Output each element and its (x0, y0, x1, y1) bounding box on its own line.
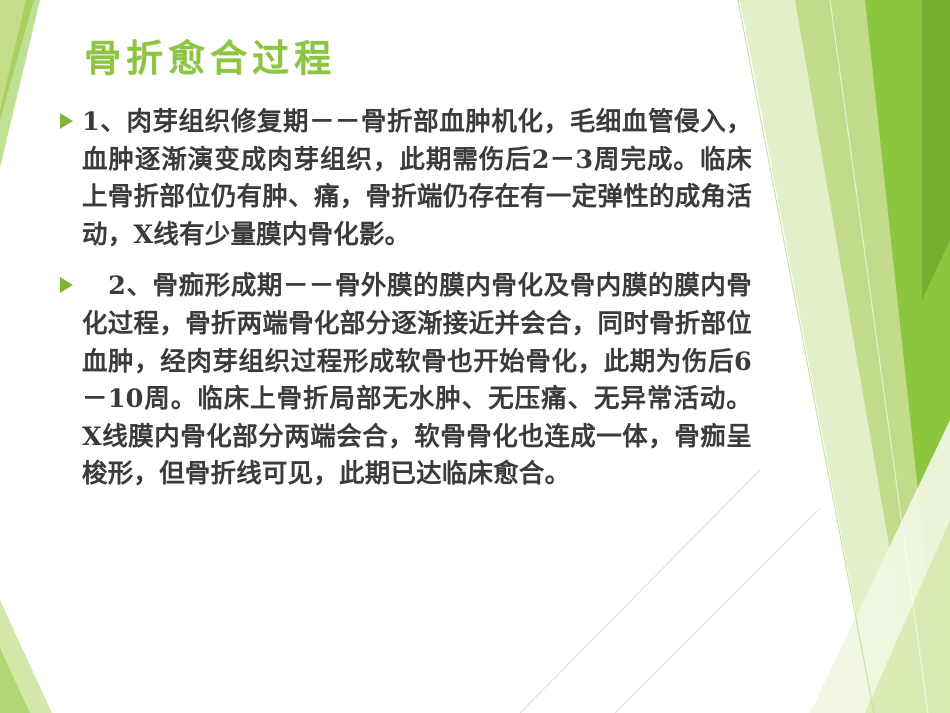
page-title: 骨折愈合过程 (84, 38, 724, 79)
slide-content: 骨折愈合过程 1、肉芽组织修复期－－骨折部血肿机化，毛细血管侵入，血肿逐渐演变成… (0, 0, 950, 713)
body-placeholder: 1、肉芽组织修复期－－骨折部血肿机化，毛细血管侵入，血肿逐渐演变成肉芽组织，此期… (52, 104, 752, 508)
bullet-text-2: 2、骨痂形成期－－骨外膜的膜内骨化及骨内膜的膜内骨化过程，骨折两端骨化部分逐渐接… (82, 268, 752, 494)
bullet-item-2: 2、骨痂形成期－－骨外膜的膜内骨化及骨内膜的膜内骨化过程，骨折两端骨化部分逐渐接… (52, 268, 752, 494)
bullet-item-1: 1、肉芽组织修复期－－骨折部血肿机化，毛细血管侵入，血肿逐渐演变成肉芽组织，此期… (52, 104, 752, 254)
presentation-slide: 骨折愈合过程 1、肉芽组织修复期－－骨折部血肿机化，毛细血管侵入，血肿逐渐演变成… (0, 0, 950, 713)
triangle-bullet-icon (60, 113, 73, 129)
bullet-text-1: 1、肉芽组织修复期－－骨折部血肿机化，毛细血管侵入，血肿逐渐演变成肉芽组织，此期… (82, 104, 752, 254)
bullet-marker-1 (52, 104, 82, 133)
triangle-bullet-icon (60, 277, 73, 293)
title-placeholder: 骨折愈合过程 (84, 38, 724, 79)
bullet-marker-2 (52, 268, 82, 297)
